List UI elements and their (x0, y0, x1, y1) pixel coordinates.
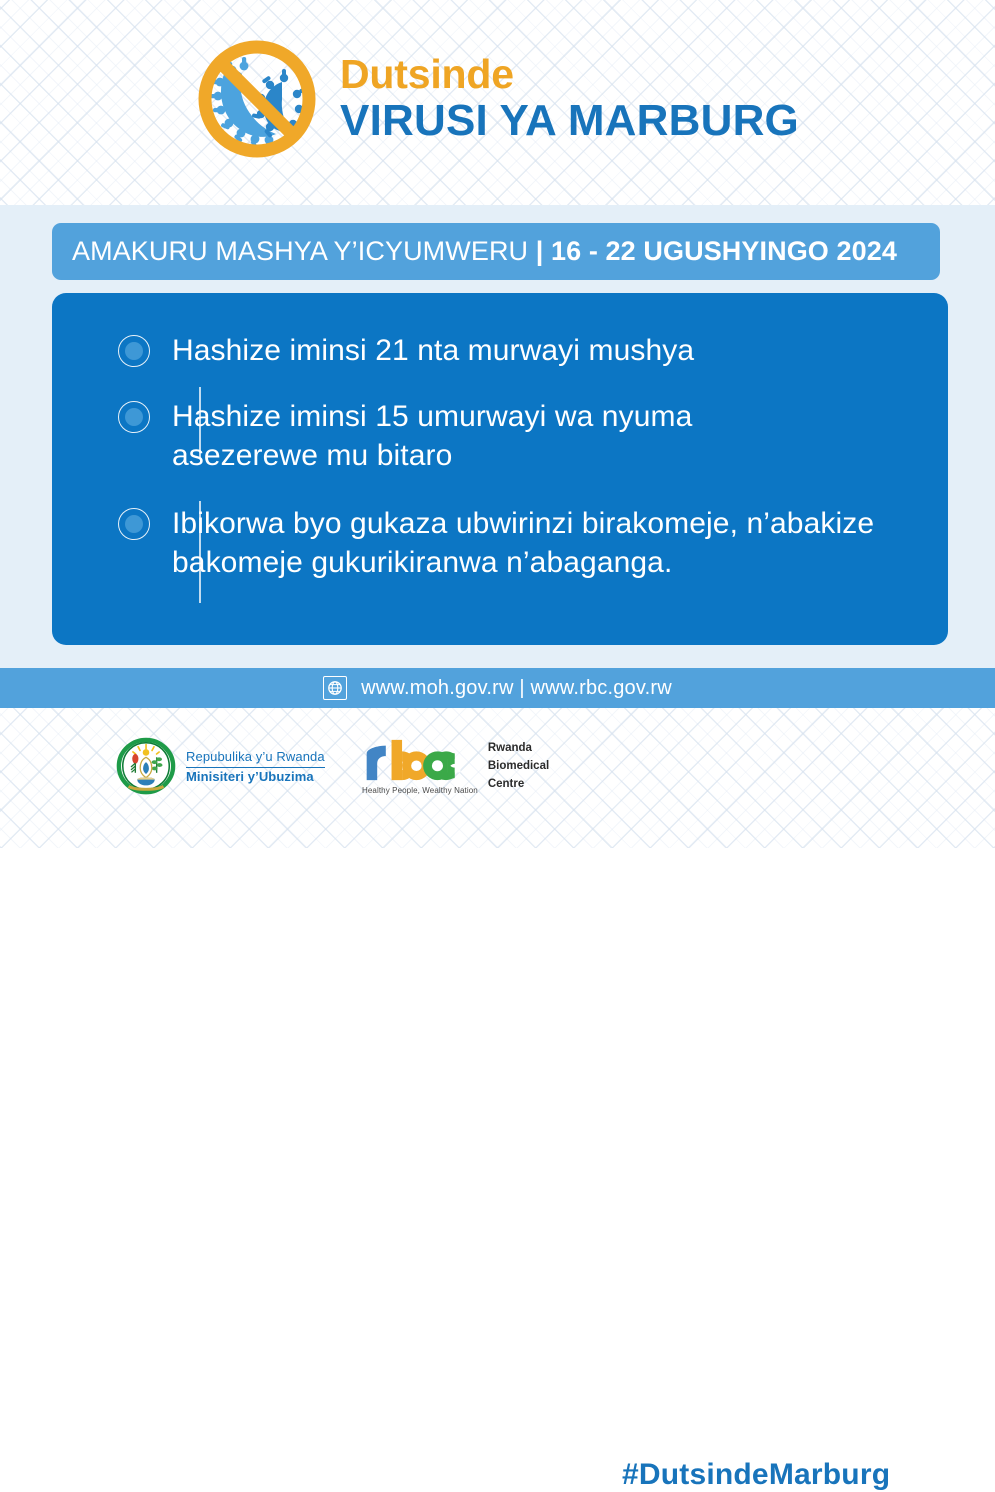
republic-label: Repubulika y’u Rwanda (186, 750, 325, 768)
updates-card: Hashize iminsi 21 nta murwayi mushya Has… (52, 293, 948, 645)
rbc-name-block: Rwanda Biomedical Centre (488, 738, 549, 793)
globe-icon-glyph (327, 680, 343, 696)
ministry-of-health-logo: Repubulika y’u Rwanda Minisiteri y’Ubuzi… (115, 736, 325, 798)
bullet-marker-icon (118, 335, 150, 367)
bullet-dot (125, 342, 143, 360)
rbc-name-line1: Rwanda (488, 740, 549, 758)
website-urls[interactable]: www.moh.gov.rw | www.rbc.gov.rw (361, 677, 672, 700)
banner-separator: | (536, 236, 551, 266)
no-virus-icon (196, 38, 318, 160)
ministry-text-block: Repubulika y’u Rwanda Minisiteri y’Ubuzi… (186, 750, 325, 785)
content-section: AMAKURU MASHYA Y’ICYUMWERU | 16 - 22 UGU… (0, 205, 995, 668)
infographic-page: Dutsinde VIRUSI YA MARBURG AMAKURU MASHY… (0, 0, 995, 848)
title-block: Dutsinde VIRUSI YA MARBURG (340, 54, 799, 143)
rbc-name-line2: Biomedical (488, 758, 549, 776)
campaign-hashtag: #DutsindeMarburg (622, 1458, 890, 1492)
list-item: Hashize iminsi 15 umurwayi wa nyuma asez… (118, 395, 918, 476)
rwanda-coat-of-arms-icon (115, 736, 177, 798)
header-inner: Dutsinde VIRUSI YA MARBURG (196, 38, 799, 160)
banner-label-light: AMAKURU MASHYA Y’ICYUMWERU (72, 236, 536, 266)
globe-icon (323, 676, 347, 700)
bullet-marker-icon (118, 401, 150, 433)
website-bar: www.moh.gov.rw | www.rbc.gov.rw (0, 668, 995, 708)
footer: Repubulika y’u Rwanda Minisiteri y’Ubuzi… (0, 708, 995, 848)
bullet-dot (125, 408, 143, 426)
rbc-tagline: Healthy People, Wealthy Nation (362, 786, 478, 795)
bullet-text: Hashize iminsi 21 nta murwayi mushya (172, 329, 694, 371)
title-line-dutsinde: Dutsinde (340, 54, 799, 95)
banner-text: AMAKURU MASHYA Y’ICYUMWERU | 16 - 22 UGU… (72, 236, 897, 267)
bullet-dot (125, 515, 143, 533)
list-item: Ibikorwa byo gukaza ubwirinzi birakomeje… (118, 502, 918, 583)
header: Dutsinde VIRUSI YA MARBURG (0, 0, 995, 205)
list-item: Hashize iminsi 21 nta murwayi mushya (118, 329, 918, 371)
rbc-mark-wrap: Healthy People, Wealthy Nation (362, 738, 478, 795)
rbc-logo: Healthy People, Wealthy Nation Rwanda Bi… (362, 738, 549, 795)
bullet-text: Ibikorwa byo gukaza ubwirinzi birakomeje… (172, 502, 892, 583)
bullet-marker-icon (118, 508, 150, 540)
weekly-update-banner: AMAKURU MASHYA Y’ICYUMWERU | 16 - 22 UGU… (52, 223, 940, 280)
title-line-virus: VIRUSI YA MARBURG (340, 99, 799, 143)
banner-label-date: 16 - 22 UGUSHYINGO 2024 (551, 236, 897, 266)
rbc-name-line3: Centre (488, 776, 549, 794)
ministry-label: Minisiteri y’Ubuzima (186, 768, 325, 785)
rbc-wordmark-icon (362, 738, 467, 782)
bullet-list: Hashize iminsi 21 nta murwayi mushya Has… (118, 329, 918, 625)
bullet-text: Hashize iminsi 15 umurwayi wa nyuma asez… (172, 395, 812, 476)
